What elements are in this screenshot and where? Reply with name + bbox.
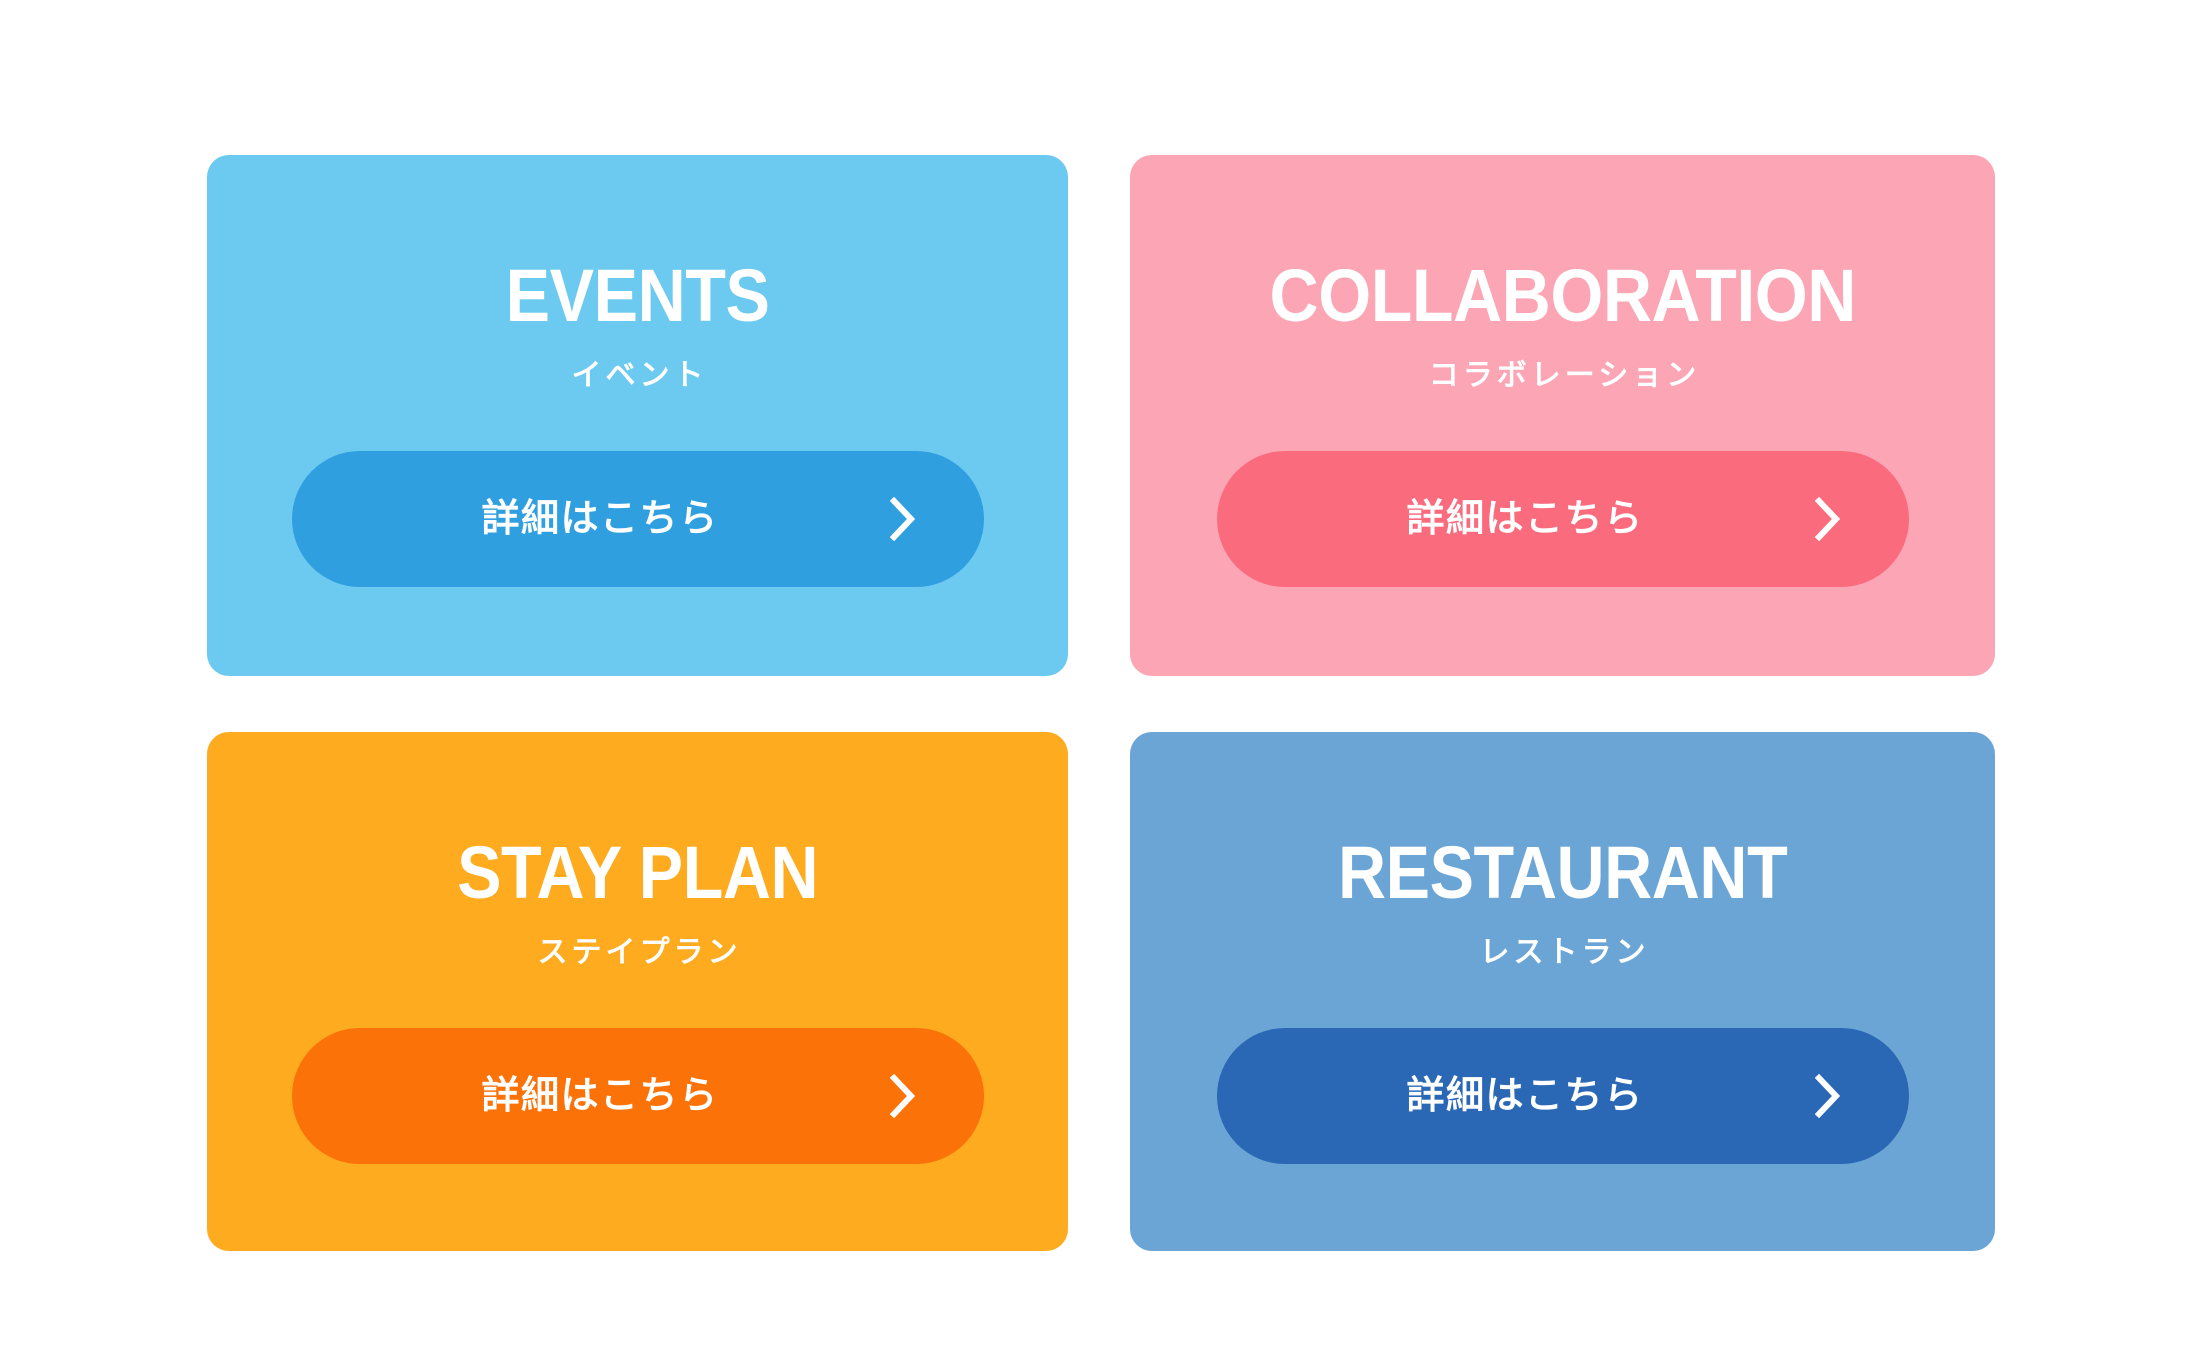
stay-plan-detail-button-label: 詳細はこちら (292, 1077, 984, 1115)
category-card-board: EVENTS イベント 詳細はこちら COLLABORATION (0, 0, 2200, 1370)
chevron-right-icon (890, 1074, 916, 1118)
events-subtitle: イベント (568, 361, 708, 391)
stay-plan-detail-button[interactable]: 詳細はこちら (292, 1028, 984, 1164)
stay-plan-subtitle-row: ステイプラン (207, 938, 1068, 968)
events-detail-button[interactable]: 詳細はこちら (292, 451, 984, 587)
collaboration-subtitle: コラボレーション (1425, 361, 1700, 391)
collaboration-detail-button[interactable]: 詳細はこちら (1217, 451, 1909, 587)
category-card-restaurant[interactable]: RESTAURANT レストラン 詳細はこちら (1130, 732, 1995, 1251)
stay-plan-subtitle: ステイプラン (534, 938, 742, 968)
stay-plan-title-row: STAY PLAN (207, 836, 1068, 910)
events-title-row: EVENTS (207, 259, 1068, 333)
events-title: EVENTS (506, 259, 770, 333)
chevron-right-icon (1815, 497, 1841, 541)
restaurant-button-row: 詳細はこちら (1130, 1028, 1995, 1164)
stay-plan-title: STAY PLAN (457, 836, 818, 910)
events-button-row: 詳細はこちら (207, 451, 1068, 587)
category-card-grid: EVENTS イベント 詳細はこちら COLLABORATION (207, 155, 1995, 1251)
restaurant-detail-button-label: 詳細はこちら (1217, 1077, 1909, 1115)
restaurant-detail-button[interactable]: 詳細はこちら (1217, 1028, 1909, 1164)
events-subtitle-row: イベント (207, 361, 1068, 391)
restaurant-subtitle-row: レストラン (1130, 938, 1995, 968)
category-card-stay-plan[interactable]: STAY PLAN ステイプラン 詳細はこちら (207, 732, 1068, 1251)
chevron-right-icon (890, 497, 916, 541)
collaboration-title-row: COLLABORATION (1130, 259, 1995, 333)
collaboration-title: COLLABORATION (1269, 259, 1856, 333)
stay-plan-button-row: 詳細はこちら (207, 1028, 1068, 1164)
collaboration-button-row: 詳細はこちら (1130, 451, 1995, 587)
chevron-right-icon (1815, 1074, 1841, 1118)
collaboration-subtitle-row: コラボレーション (1130, 361, 1995, 391)
collaboration-detail-button-label: 詳細はこちら (1217, 500, 1909, 538)
category-card-events[interactable]: EVENTS イベント 詳細はこちら (207, 155, 1068, 676)
restaurant-title-row: RESTAURANT (1130, 836, 1995, 910)
restaurant-subtitle: レストラン (1476, 938, 1650, 968)
restaurant-title: RESTAURANT (1338, 836, 1787, 910)
events-detail-button-label: 詳細はこちら (292, 500, 984, 538)
category-card-collaboration[interactable]: COLLABORATION コラボレーション 詳細はこちら (1130, 155, 1995, 676)
